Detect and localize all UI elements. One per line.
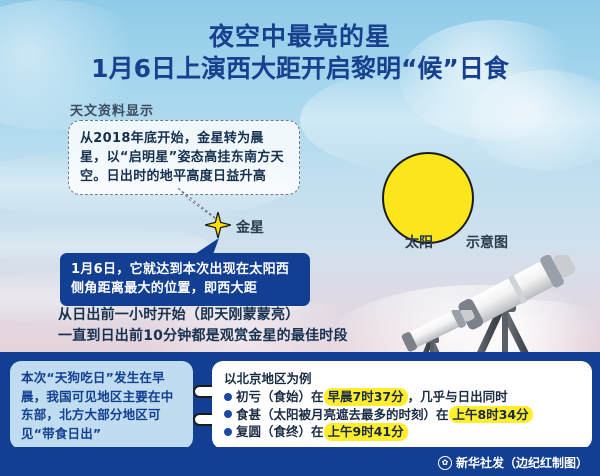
- four-point-star-icon: [205, 212, 231, 238]
- venus-info-bubble: 从2018年底开始，金星转为晨星，以“启明星”姿态高挂东南方天空。日出时的地平高…: [68, 120, 300, 195]
- sun-label: 太阳: [405, 232, 433, 252]
- credit-text: 新华社发（边纪红制图）: [456, 454, 588, 471]
- table-row: 食甚（太阳被月亮遮去最多的时刻）在 上午8时34分: [224, 406, 584, 424]
- infographic-canvas: 夜空中最亮的星 1月6日上演西大距开启黎明“候”日食 天文资料显示 从2018年…: [0, 0, 600, 476]
- beijing-example-heading: 以北京地区为例: [224, 368, 584, 387]
- schematic-label: 示意图: [466, 232, 508, 252]
- page-title: 夜空中最亮的星 1月6日上演西大距开启黎明“候”日食: [0, 22, 600, 86]
- venus-label: 金星: [236, 217, 264, 237]
- west-elongation-bubble: 1月6日，它就达到本次出现在太阳西侧角距离最大的位置，即西大距: [60, 253, 310, 306]
- xinhua-logo-icon: ✿: [438, 456, 452, 470]
- astro-data-label: 天文资料显示: [70, 100, 154, 119]
- viewing-window-line-1: 从日出前一小时开始（即天刚蒙蒙亮）: [58, 305, 388, 326]
- eclipse-visibility-panel: 本次“天狗吃日”发生在早晨，我国可见地区主要在中东部，北方大部分地区可见“带食日…: [10, 361, 193, 449]
- title-line-2: 1月6日上演西大距开启黎明“候”日食: [0, 52, 600, 86]
- viewing-window-text: 从日出前一小时开始（即天刚蒙蒙亮） 一直到日出前10分钟都是观赏金星的最佳时段: [58, 305, 388, 347]
- phase-note: ，几乎与日出同时: [408, 388, 508, 406]
- sun-circle-icon: [382, 152, 474, 244]
- phase-time: 上午8时34分: [449, 406, 533, 424]
- phase-label: 初亏（食始）在: [236, 388, 324, 406]
- bullet-icon: [224, 428, 232, 436]
- table-row: 初亏（食始）在 早晨7时37分 ，几乎与日出同时: [224, 388, 584, 406]
- table-row: 复圆（食终）在 上午9时41分: [224, 423, 584, 441]
- phase-time: 早晨7时37分: [324, 388, 408, 406]
- phase-time: 上午9时41分: [324, 423, 408, 441]
- title-line-1: 夜空中最亮的星: [0, 22, 600, 52]
- phase-label: 复圆（食终）在: [236, 423, 324, 441]
- credit-line: ✿ 新华社发（边纪红制图）: [438, 454, 588, 471]
- viewing-window-line-2: 一直到日出前10分钟都是观赏金星的最佳时段: [58, 326, 388, 347]
- bullet-icon: [224, 410, 232, 418]
- bullet-icon: [224, 393, 232, 401]
- phase-label: 食甚（太阳被月亮遮去最多的时刻）在: [236, 406, 449, 424]
- beijing-timing-panel: 以北京地区为例 初亏（食始）在 早晨7时37分 ，几乎与日出同时 食甚（太阳被月…: [212, 361, 592, 449]
